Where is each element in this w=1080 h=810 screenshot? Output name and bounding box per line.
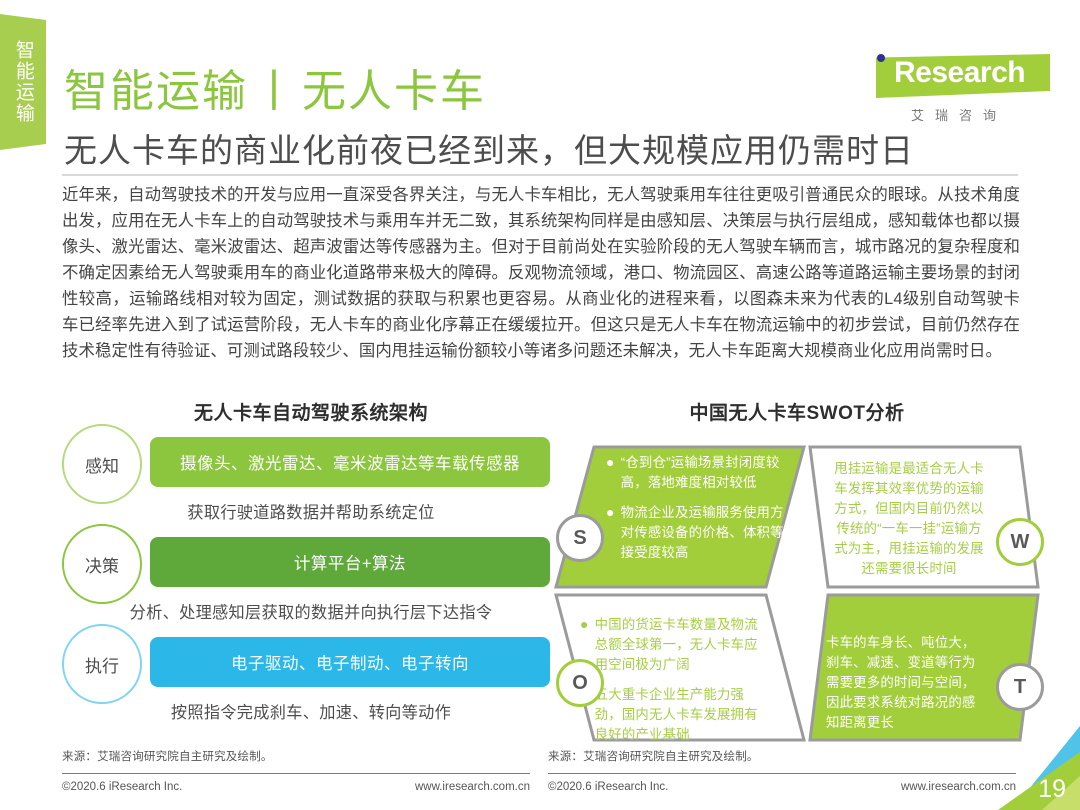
bullet-dot-icon: ● <box>606 453 615 493</box>
footer-right-copyright: ©2020.6 iResearch Inc. <box>548 781 668 793</box>
architecture-caption-perception: 获取行驶道路数据并帮助系统定位 <box>62 489 560 537</box>
logo-i-stem <box>877 66 885 96</box>
list-item: ● “仓到仓”运输场景封闭度较高，落地难度相对较低 <box>606 453 786 493</box>
footer-right-divider <box>548 773 1016 774</box>
page-title-divider: 丨 <box>248 67 302 116</box>
swot-bullet-text: 五大重卡企业生产能力强劲，国内无人卡车发展拥有良好的产业基础 <box>595 685 766 745</box>
slide-page: 智能运输 Research 艾瑞咨询 智能运输丨无人卡车 无人卡车的商业化前夜已… <box>0 0 1080 810</box>
footer-left-copyright: ©2020.6 iResearch Inc. <box>62 781 182 793</box>
architecture-caption-execution: 按照指令完成刹车、加速、转向等动作 <box>62 689 560 737</box>
footer-right: 来源：艾瑞咨询研究院自主研究及绘制。 ©2020.6 iResearch Inc… <box>548 748 1016 793</box>
architecture-caption-decision: 分析、处理感知层获取的数据并向执行层下达指令 <box>62 589 560 637</box>
logo-mark: Research <box>854 52 1050 100</box>
swot-bullet-text: 中国的货运卡车数量及物流总额全球第一，无人卡车应用空间极为广阔 <box>595 615 766 675</box>
swot-bullet-text: “仓到仓”运输场景封闭度较高，落地难度相对较低 <box>621 453 786 493</box>
architecture-circle-perception: 感知 <box>62 424 142 504</box>
page-number: 19 <box>1038 775 1066 804</box>
architecture-panel: 无人卡车自动驾驶系统架构 摄像头、激光雷达、毫米波雷达等车载传感器 感知 获取行… <box>62 398 560 770</box>
architecture-row-execution: 电子驱动、电子制动、电子转向 执行 <box>62 637 560 687</box>
swot-text-threats: 卡车的车身长、吨位大，刹车、减速、变道等行为需要更多的时间与空间，因此要求系统对… <box>826 633 984 733</box>
logo-wordmark: Research <box>894 56 1025 90</box>
architecture-diagram: 摄像头、激光雷达、毫米波雷达等车载传感器 感知 获取行驶道路数据并帮助系统定位 … <box>62 437 560 747</box>
architecture-circle-execution: 执行 <box>62 624 142 704</box>
page-title-left: 智能运输 <box>64 67 248 116</box>
list-item: ● 物流企业及运输服务使用方对传感设备的价格、体积等接受度较高 <box>606 503 786 563</box>
footer-right-bottom: ©2020.6 iResearch Inc. www.iresearch.com… <box>548 781 1016 793</box>
footer-right-source: 来源：艾瑞咨询研究院自主研究及绘制。 <box>548 748 1016 764</box>
swot-title: 中国无人卡车SWOT分析 <box>548 398 1046 425</box>
section-tab-label: 智能运输 <box>12 40 34 124</box>
architecture-title: 无人卡车自动驾驶系统架构 <box>62 398 560 425</box>
swot-text-strengths: ● “仓到仓”运输场景封闭度较高，落地难度相对较低 ● 物流企业及运输服务使用方… <box>606 453 786 573</box>
architecture-bar-decision: 计算平台+算法 <box>150 537 550 587</box>
page-title-right: 无人卡车 <box>302 67 486 116</box>
swot-bullet-text: 卡车的车身长、吨位大，刹车、减速、变道等行为需要更多的时间与空间，因此要求系统对… <box>826 635 976 730</box>
swot-bullet-text: 甩挂运输是最适合无人卡车发挥其效率优势的运输方式，但国内目前仍然以传统的“一车一… <box>834 461 984 576</box>
swot-text-opportunities: ● 中国的货运卡车数量及物流总额全球第一，无人卡车应用空间极为广阔 ● 五大重卡… <box>580 615 766 755</box>
iresearch-logo: Research 艾瑞咨询 <box>854 52 1050 128</box>
footer-left-divider <box>62 773 530 774</box>
swot-badge-s: S <box>556 514 604 562</box>
swot-panel: 中国无人卡车SWOT分析 ● “仓到仓”运输场景封闭度较高，落地难度相对较低 <box>548 398 1046 770</box>
list-item: ● 中国的货运卡车数量及物流总额全球第一，无人卡车应用空间极为广阔 <box>580 615 766 675</box>
swot-badge-w: W <box>996 518 1044 566</box>
swot-diagram: ● “仓到仓”运输场景封闭度较高，落地难度相对较低 ● 物流企业及运输服务使用方… <box>548 437 1046 752</box>
footer-left-bottom: ©2020.6 iResearch Inc. www.iresearch.com… <box>62 781 530 793</box>
architecture-circle-decision: 决策 <box>62 524 142 604</box>
architecture-bar-execution: 电子驱动、电子制动、电子转向 <box>150 637 550 687</box>
swot-badge-o: O <box>556 659 604 707</box>
swot-badge-t: T <box>996 663 1044 711</box>
architecture-row-decision: 计算平台+算法 决策 <box>62 537 560 587</box>
bullet-dot-icon: ● <box>606 503 615 563</box>
architecture-row-perception: 摄像头、激光雷达、毫米波雷达等车载传感器 感知 <box>62 437 560 487</box>
footer-left: 来源：艾瑞咨询研究院自主研究及绘制。 ©2020.6 iResearch Inc… <box>62 748 530 793</box>
logo-subtitle: 艾瑞咨询 <box>854 105 1050 124</box>
swot-bullet-text: 物流企业及运输服务使用方对传感设备的价格、体积等接受度较高 <box>621 503 786 563</box>
page-subtitle: 无人卡车的商业化前夜已经到来，但大规模应用仍需时日 <box>64 124 914 172</box>
swot-text-weaknesses: 甩挂运输是最适合无人卡车发挥其效率优势的运输方式，但国内目前仍然以传统的“一车一… <box>833 459 985 579</box>
logo-i-dot-icon <box>877 54 885 62</box>
body-paragraph: 近年来，自动驾驶技术的开发与应用一直深受各界关注，与无人卡车相比，无人驾驶乘用车… <box>62 182 1020 364</box>
section-tab: 智能运输 <box>0 14 46 150</box>
footer-left-source: 来源：艾瑞咨询研究院自主研究及绘制。 <box>62 748 530 764</box>
title-divider-rule <box>62 174 1018 176</box>
page-title: 智能运输丨无人卡车 <box>64 55 486 119</box>
footer-left-site[interactable]: www.iresearch.com.cn <box>415 781 530 793</box>
list-item: ● 五大重卡企业生产能力强劲，国内无人卡车发展拥有良好的产业基础 <box>580 685 766 745</box>
architecture-bar-perception: 摄像头、激光雷达、毫米波雷达等车载传感器 <box>150 437 550 487</box>
